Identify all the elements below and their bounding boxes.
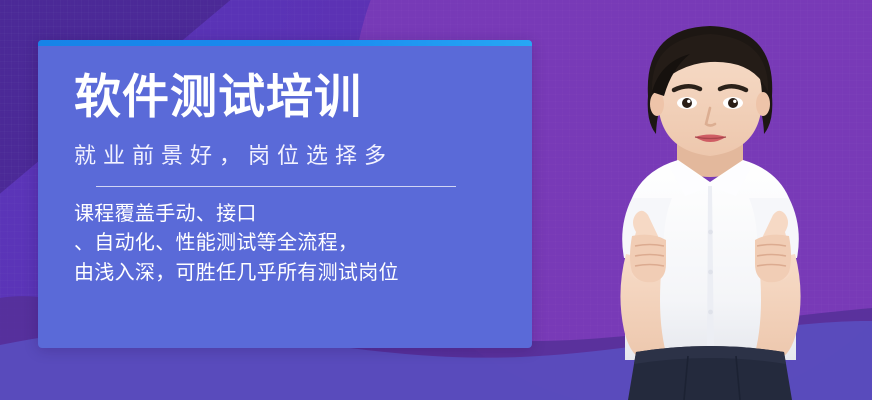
card-subtitle: 就业前景好，岗位选择多 [74,122,496,170]
body-line: 、自动化、性能测试等全流程， [74,229,496,259]
card-content: 软件测试培训 就业前景好，岗位选择多 课程覆盖手动、接口 、自动化、性能测试等全… [38,46,532,348]
card-body: 课程覆盖手动、接口 、自动化、性能测试等全流程， 由浅入深，可胜任几乎所有测试岗… [74,187,496,289]
person-photo [540,0,872,400]
page-title: 软件测试培训 [74,46,496,122]
body-line: 课程覆盖手动、接口 [74,200,496,230]
promo-card: 软件测试培训 就业前景好，岗位选择多 课程覆盖手动、接口 、自动化、性能测试等全… [38,40,532,348]
body-line: 由浅入深，可胜任几乎所有测试岗位 [74,259,496,289]
promo-banner: 软件测试培训 就业前景好，岗位选择多 课程覆盖手动、接口 、自动化、性能测试等全… [0,0,872,400]
